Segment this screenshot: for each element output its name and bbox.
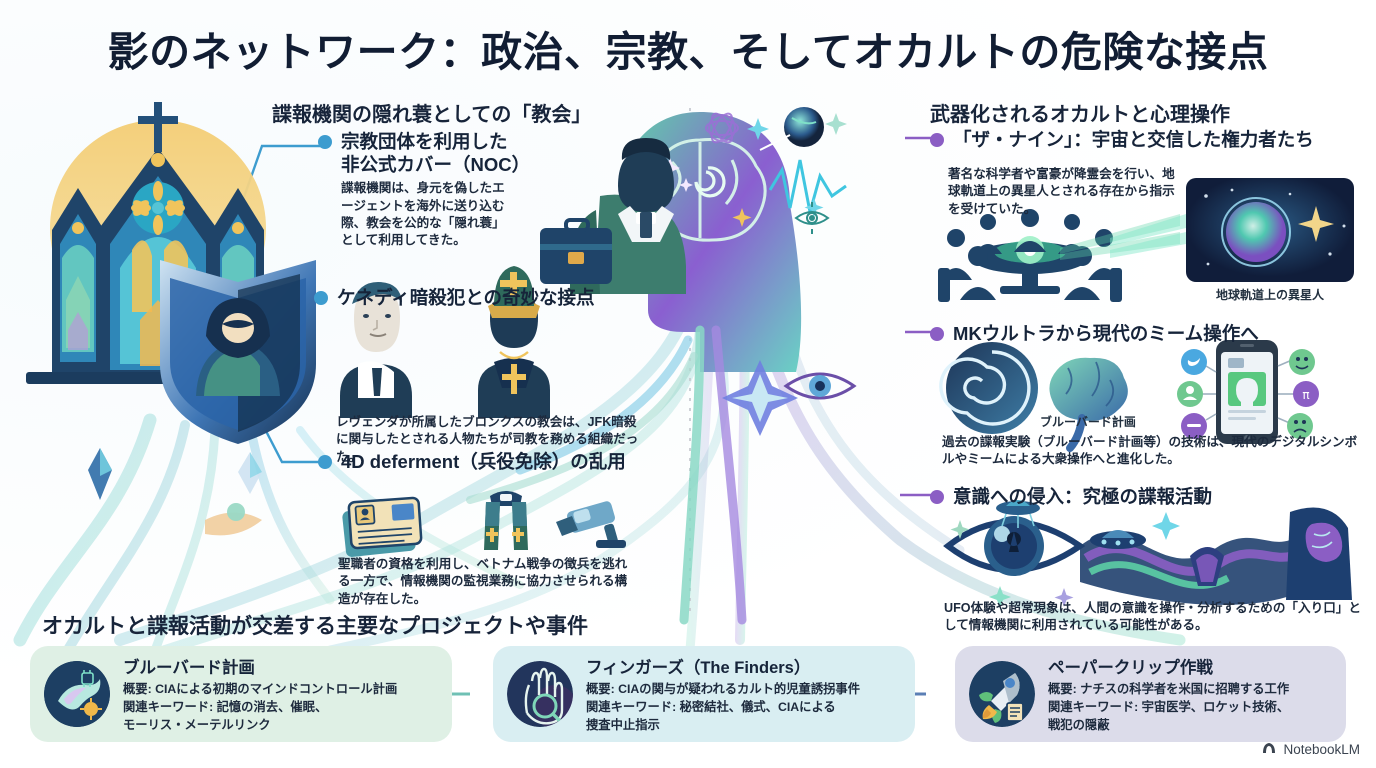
page-title: 影のネットワーク：政治、宗教、そしてオカルトの危険な接点	[0, 18, 1376, 78]
right-item-3-description: UFO体験や超常現象は、人間の意識を操作・分析するための「入り口」として情報機関…	[944, 600, 1364, 635]
bullet-dot-icon	[930, 327, 944, 341]
clerical-stole-icon	[484, 491, 528, 550]
project-card-bluebird[interactable]: ブルーバード計画 概要: CIAによる初期のマインドコントロール計画 関連キーワ…	[30, 646, 452, 742]
left-item-2[interactable]: ケネディ暗殺犯との奇妙な接点	[314, 286, 644, 309]
notebooklm-brand-label: NotebookLM	[1283, 742, 1360, 757]
hand-magnifier-icon	[507, 661, 573, 727]
shield-hooded-figure-illustration	[160, 260, 316, 444]
left-item-1[interactable]: 宗教団体を利用した 非公式カバー（NOC） 諜報機関は、身元を偽したエージェント…	[318, 130, 528, 250]
card-summary: 概要: CIAによる初期のマインドコントロール計画	[123, 681, 397, 697]
right-item-1-description: 著名な科学者や富豪が降霊会を行い、地球軌道上の異星人とされる存在から指示を受けて…	[948, 166, 1180, 218]
infographic-canvas: π	[0, 0, 1376, 768]
project-card-paperclip[interactable]: ペーパークリップ作戦 概要: ナチスの科学者を米国に招聘する工作 関連キーワード…	[955, 646, 1346, 742]
right-column-heading: 武器化されるオカルトと心理操作	[930, 98, 1230, 127]
right-item-1-caption: 地球軌道上の異星人	[1186, 286, 1354, 303]
crystal-icons	[88, 448, 262, 535]
bird-chip-icon	[44, 661, 110, 727]
left-item-3-title: 4D deferment（兵役免除）の乱用	[341, 450, 626, 473]
left-column-heading: 諜報機関の隠れ蓑としての「教会」	[272, 98, 591, 127]
bullet-dot-icon	[318, 455, 332, 469]
card-title: ペーパークリップ作戦	[1048, 659, 1289, 679]
social-media-phone-icon: π	[1177, 340, 1319, 444]
left-item-1-title-line1: 宗教団体を利用した	[341, 130, 528, 153]
project-cards: ブルーバード計画 概要: CIAによる初期のマインドコントロール計画 関連キーワ…	[30, 646, 1346, 742]
card-keywords-line2: 捜査中止指示	[586, 717, 860, 733]
left-item-1-title-line2: 非公式カバー（NOC）	[341, 153, 528, 176]
svg-text:π: π	[1302, 388, 1309, 402]
right-item-1-title: 「ザ・ナイン」：宇宙と交信した権力者たち	[953, 128, 1314, 151]
right-item-2-caption: ブルーバード計画	[1040, 413, 1160, 430]
security-camera-icon	[556, 500, 626, 548]
card-title: ブルーバード計画	[123, 659, 397, 679]
seance-meeting-illustration	[938, 209, 1180, 302]
priest-figure-illustration	[540, 138, 686, 294]
card-keywords-line2: モーリス・メーテルリンク	[123, 717, 397, 733]
left-item-3-description: 聖職者の資格を利用し、ベトナム戦争の徴兵を逃れる一方で、情報機関の監視業務に協力…	[338, 556, 634, 608]
rocket-document-icon	[969, 661, 1035, 727]
church-illustration	[26, 102, 274, 384]
id-card-icon	[342, 498, 422, 558]
left-item-2-title: ケネディ暗殺犯との奇妙な接点	[337, 286, 595, 309]
notebooklm-logo-icon	[1261, 740, 1277, 759]
right-item-2-title: MKウルトラから現代のミーム操作へ	[953, 322, 1259, 345]
right-item-2-description: 過去の諜報実験（ブルーバード計画等）の技術は、現代のデジタルシンボルやミームによ…	[942, 434, 1362, 469]
card-summary: 概要: ナチスの科学者を米国に招聘する工作	[1048, 681, 1289, 697]
card-keywords-line2: 戦犯の隠蔽	[1048, 717, 1289, 733]
bullet-dot-icon	[318, 135, 332, 149]
card-keywords-line1: 関連キーワード: 秘密結社、儀式、CIAによる	[586, 699, 860, 715]
right-item-1[interactable]: 「ザ・ナイン」：宇宙と交信した権力者たち	[930, 128, 1350, 151]
right-item-3-title: 意識への侵入：究極の諜報活動	[953, 485, 1212, 508]
right-item-3[interactable]: 意識への侵入：究極の諜報活動	[930, 485, 1350, 508]
left-item-1-description: 諜報機関は、身元を偽したエージェントを海外に送り込む際、教会を公的な「隠れ蓑」と…	[341, 180, 517, 250]
card-title: フィンガーズ（The Finders）	[586, 659, 860, 679]
left-item-3[interactable]: 4D deferment（兵役免除）の乱用	[318, 450, 648, 473]
project-card-finders[interactable]: フィンガーズ（The Finders） 概要: CIAの関与が疑われるカルト的児…	[493, 646, 915, 742]
card-summary: 概要: CIAの関与が疑われるカルト的児童誘拐事件	[586, 681, 860, 697]
card-keywords-line1: 関連キーワード: 記憶の消去、催眠、	[123, 699, 397, 715]
right-item-2[interactable]: MKウルトラから現代のミーム操作へ	[930, 322, 1350, 345]
card-keywords-line1: 関連キーワード: 宇宙医学、ロケット技術、	[1048, 699, 1289, 715]
bottom-section-heading: オカルトと諜報活動が交差する主要なプロジェクトや事件	[42, 610, 588, 640]
eye-ufo-mind-illustration	[948, 500, 1352, 608]
bullet-dot-icon	[314, 291, 328, 305]
bullet-dot-icon	[930, 490, 944, 504]
bullet-dot-icon	[930, 133, 944, 147]
hypnosis-spiral-icon	[941, 342, 1038, 434]
notebooklm-footer: NotebookLM	[1261, 740, 1360, 759]
